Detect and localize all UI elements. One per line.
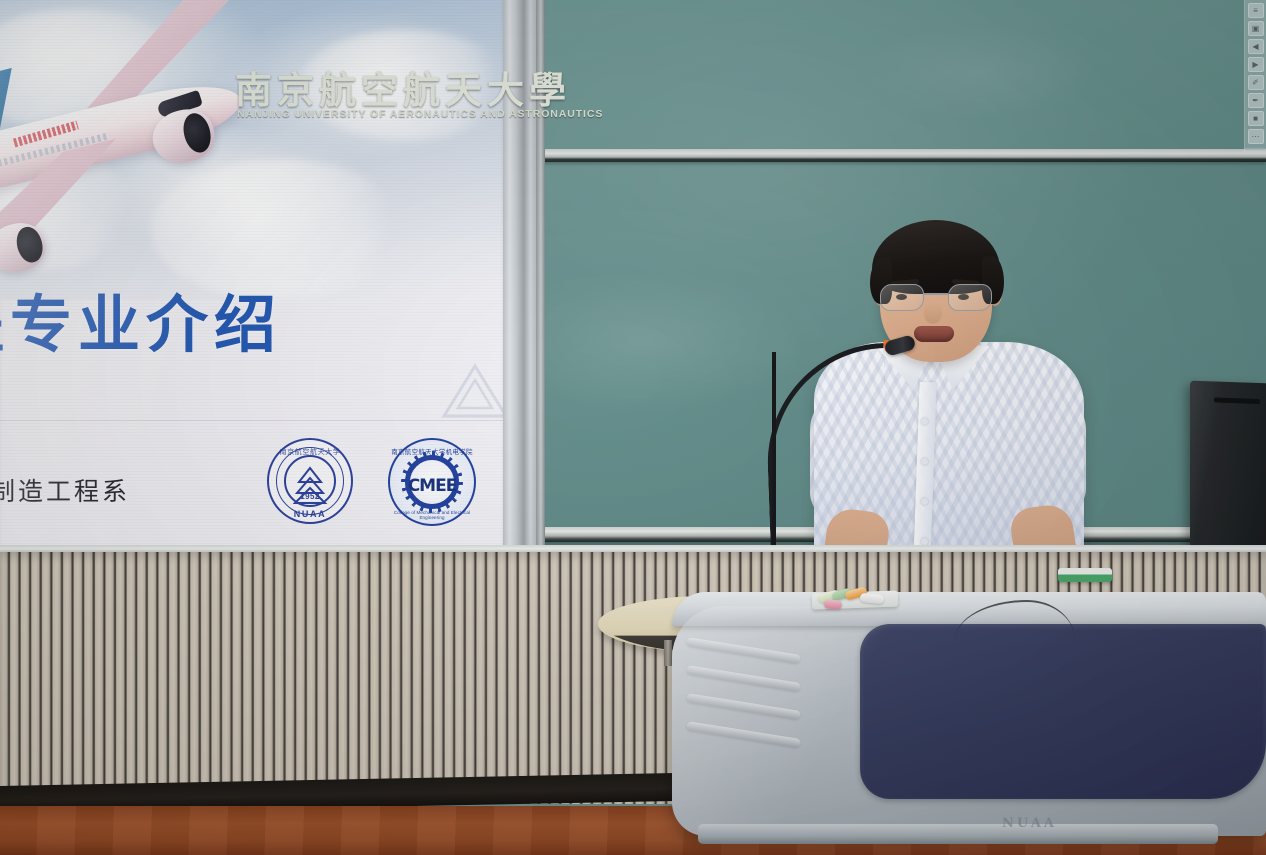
lectern-rib — [686, 665, 801, 692]
chalkboard-divider-rail — [505, 149, 1266, 162]
shirt-button — [921, 538, 928, 545]
slide-subtitle: 航制造工程系 — [0, 472, 130, 508]
slide-date: 5 — [0, 508, 1, 536]
eraser-icon[interactable]: ■ — [1248, 111, 1264, 126]
left-lens — [880, 284, 924, 311]
triangle-watermark-icon — [440, 360, 510, 422]
pen-icon[interactable]: ✐ — [1248, 75, 1264, 90]
podium-brand-english: NANJING UNIVERSITY OF AERONAUTICS AND AS… — [237, 108, 603, 120]
side-table-leg — [664, 640, 672, 666]
more-icon[interactable]: ⋯ — [1248, 129, 1264, 144]
seal-cn-text: 南京航空航天大学 — [269, 447, 351, 457]
lectern-emboss-logo: NUAA — [1002, 816, 1057, 831]
board-eraser — [1058, 568, 1112, 582]
podium-brand-chinese: 南京航空航天大學 — [235, 60, 571, 114]
cmee-seal-icon: 南京航空航天大学机电学院 CMEE College of Mechanical … — [388, 438, 476, 526]
lectern-top-surface — [672, 592, 1266, 626]
lectern-front-panel — [860, 624, 1266, 799]
glasses-bridge — [924, 293, 948, 295]
capture-icon[interactable]: ▣ — [1248, 21, 1264, 36]
volume-icon[interactable]: ◀ — [1248, 39, 1264, 54]
monitor-vent — [1214, 397, 1260, 404]
lectern-side-ribs — [686, 640, 801, 744]
lectern-rib — [686, 693, 801, 720]
seal-en-text: College of Mechanical and Electrical Eng… — [390, 510, 474, 520]
slide-divider — [0, 420, 510, 421]
shirt-button — [921, 458, 928, 465]
chalk-piece — [824, 600, 842, 610]
page-icon[interactable]: ▶ — [1248, 57, 1264, 72]
seal-abbr: NUAA — [269, 509, 351, 519]
highlighter-icon[interactable]: ✒ — [1248, 93, 1264, 108]
shirt-button — [921, 418, 928, 425]
shirt-button — [921, 498, 928, 505]
mouth-open — [914, 326, 954, 342]
seal-letters: CMEE — [390, 476, 474, 496]
nuaa-seal-icon: 南京航空航天大学 1952 NUAA — [267, 438, 353, 524]
seal-cn-text: 南京航空航天大学机电学院 — [390, 446, 474, 456]
slide-title: 程专业介绍 — [0, 274, 282, 364]
seal-year: 1952 — [269, 492, 351, 501]
menu-icon[interactable]: ≡ — [1248, 3, 1264, 18]
lectern: NUAA — [672, 588, 1266, 855]
lectern-rib — [686, 721, 801, 748]
right-lens — [948, 284, 992, 311]
lecture-hall-photo: 程专业介绍 航制造工程系 5 南京航空航天大学 1952 NUAA — [0, 0, 1266, 855]
lectern-rib — [686, 637, 801, 664]
annotation-toolbar[interactable]: ≡ ▣ ◀ ▶ ✐ ✒ ■ ⋯ — [1244, 0, 1266, 152]
nose — [924, 302, 942, 324]
lectern-base — [698, 824, 1218, 844]
